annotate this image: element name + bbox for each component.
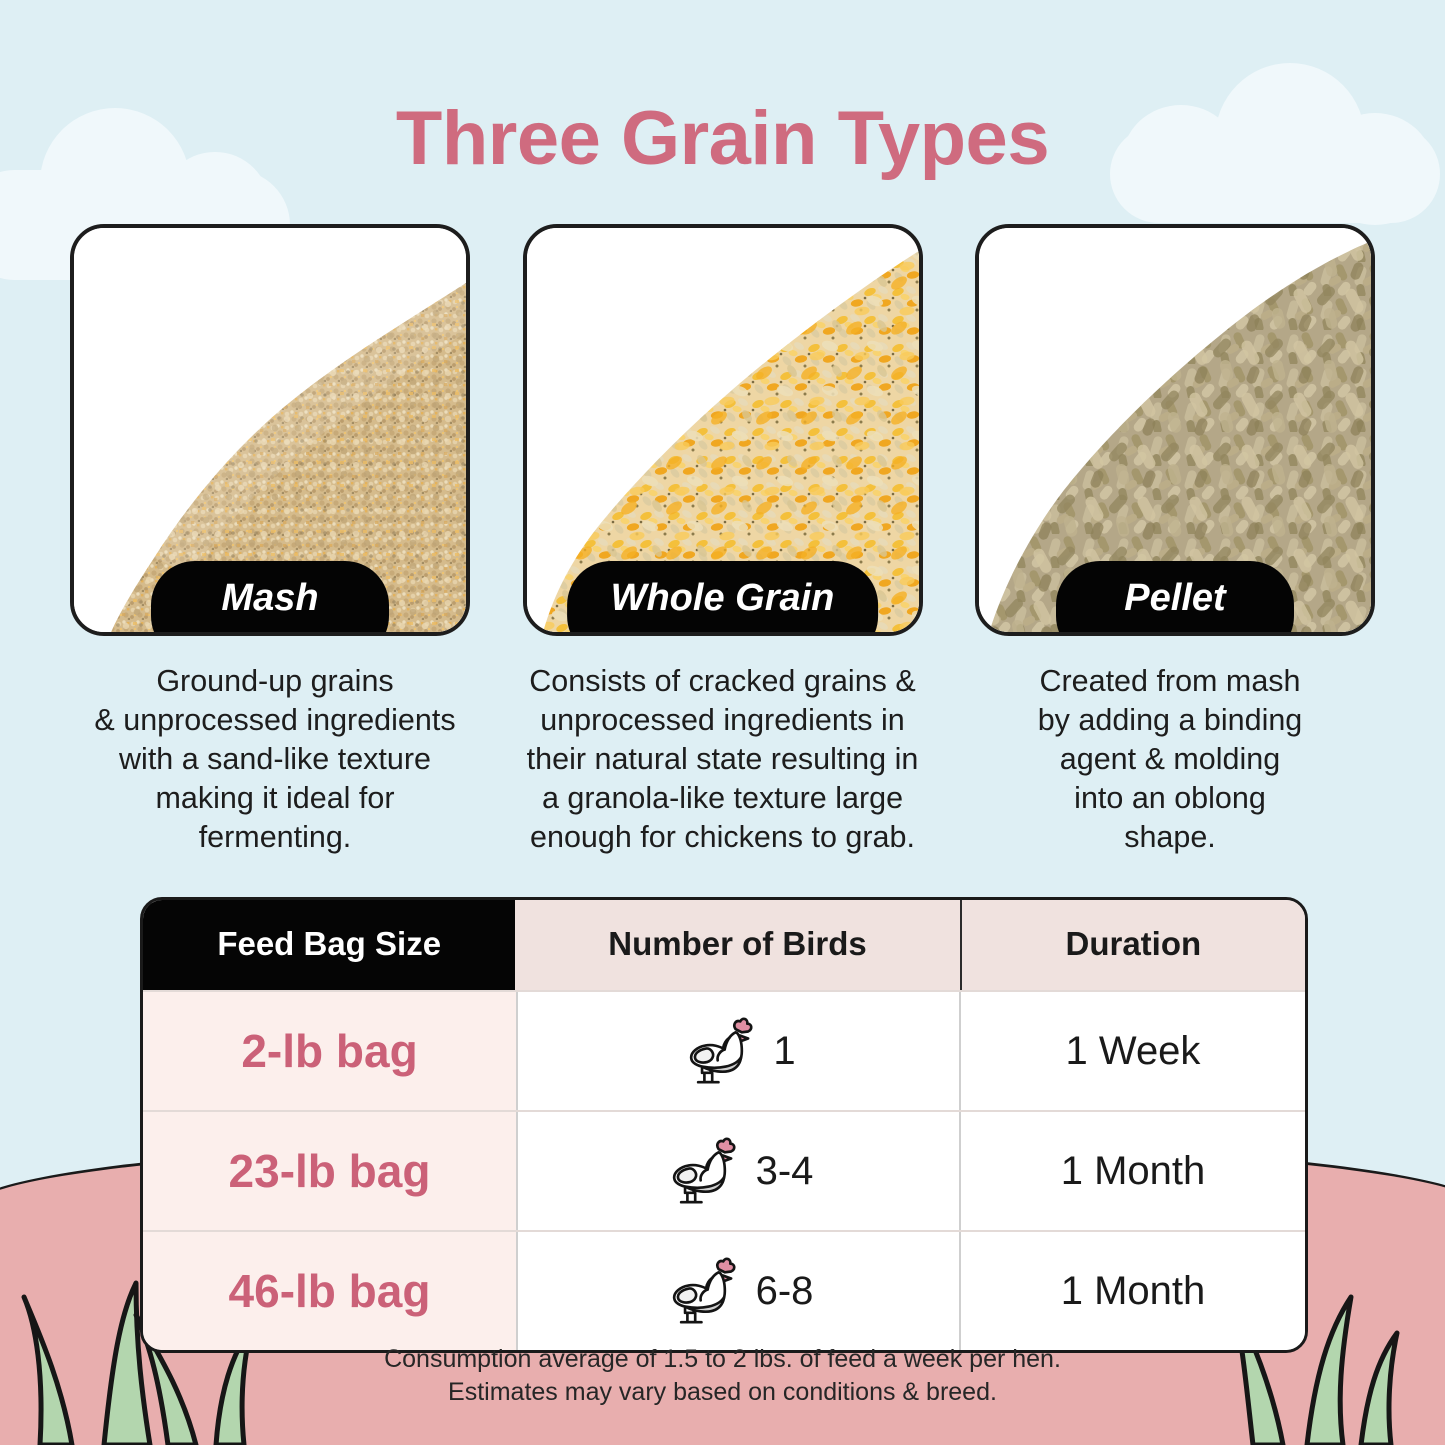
table-row: 46-lb bag 6-8 1 (143, 1230, 1305, 1350)
hen-icon (681, 1012, 759, 1090)
description-mash: Ground-up grains & unprocessed ingredien… (60, 662, 490, 857)
bird-count-label: 6-8 (756, 1269, 814, 1314)
mash-grain-photo (74, 228, 466, 632)
cell-bag-size: 46-lb bag (143, 1232, 516, 1350)
description-pellet: Created from mash by adding a binding ag… (955, 662, 1385, 857)
page-title: Three Grain Types (0, 95, 1445, 182)
description-whole-grain: Consists of cracked grains & unprocessed… (508, 662, 938, 857)
table-header-row: Feed Bag Size Number of Birds Duration (143, 900, 1305, 990)
cell-bag-size: 2-lb bag (143, 992, 516, 1110)
grain-card-mash[interactable]: Mash (70, 224, 470, 636)
grain-card-row: Mash (70, 224, 1375, 636)
bird-count-label: 1 (773, 1029, 795, 1074)
bird-count-label: 3-4 (756, 1149, 814, 1194)
cell-number-of-birds: 1 (516, 992, 961, 1110)
cell-number-of-birds: 3-4 (516, 1112, 961, 1230)
cell-duration: 1 Month (961, 1112, 1305, 1230)
whole-grain-photo (527, 228, 919, 632)
cell-number-of-birds: 6-8 (516, 1232, 961, 1350)
column-header-number-of-birds: Number of Birds (515, 900, 961, 990)
column-header-duration: Duration (962, 900, 1305, 990)
cell-duration: 1 Month (961, 1232, 1305, 1350)
cell-duration: 1 Week (961, 992, 1305, 1110)
table-row: 2-lb bag 1 1 We (143, 990, 1305, 1110)
grain-card-pellet[interactable]: Pellet (975, 224, 1375, 636)
footnote-text: Consumption average of 1.5 to 2 lbs. of … (0, 1343, 1445, 1409)
hen-icon (664, 1252, 742, 1330)
column-header-feed-bag-size: Feed Bag Size (143, 900, 515, 990)
cell-bag-size: 23-lb bag (143, 1112, 516, 1230)
table-row: 23-lb bag 3-4 1 (143, 1110, 1305, 1230)
hen-icon (664, 1132, 742, 1210)
description-row: Ground-up grains & unprocessed ingredien… (60, 662, 1385, 857)
infographic-canvas: Three Grain Types (0, 0, 1445, 1445)
grain-card-whole-grain[interactable]: Whole Grain (523, 224, 923, 636)
pellet-photo (979, 228, 1371, 632)
feed-bag-table: Feed Bag Size Number of Birds Duration 2… (140, 897, 1308, 1353)
